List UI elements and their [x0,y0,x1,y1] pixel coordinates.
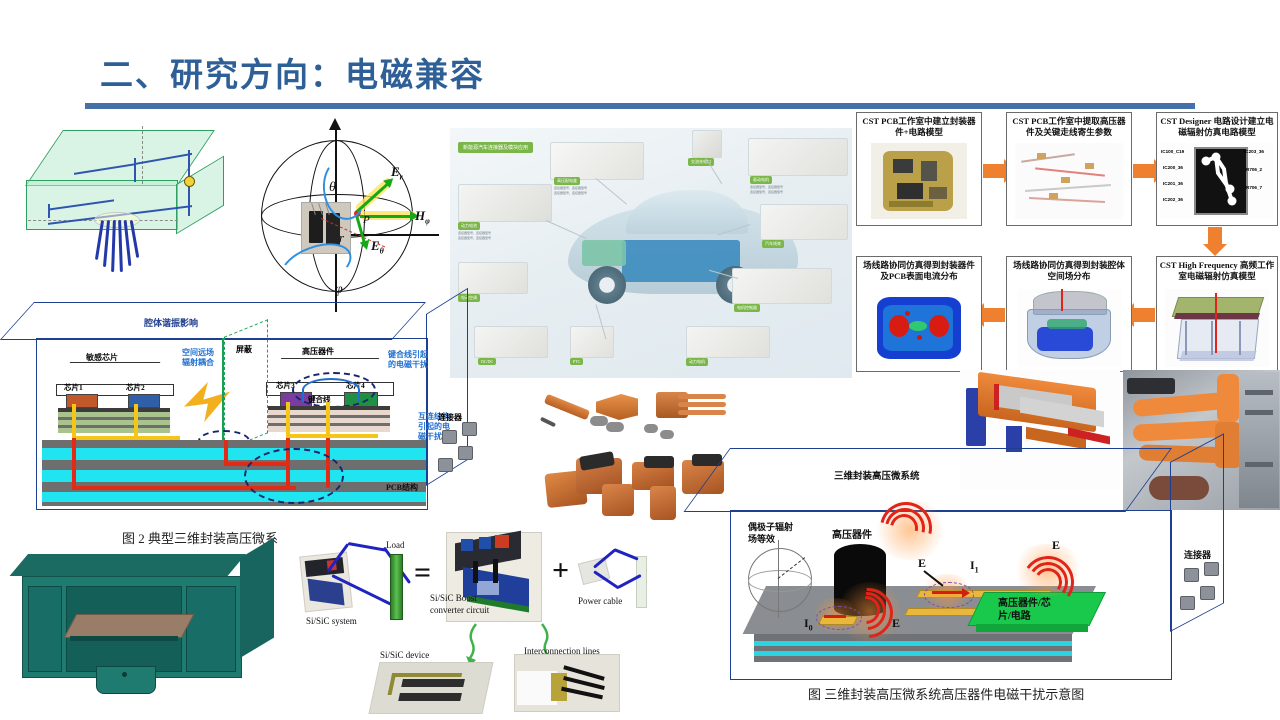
load-label: Load [386,540,405,550]
power-cable-wire-top2 [613,548,638,561]
sic-system-decomposition-diagram: Si/SiC system Load = Si/SiC Boostconvert… [288,530,698,718]
hv-connector-rod [678,402,726,407]
I0-label: I0 [804,616,813,632]
emi-figure-caption: 图 三维封装高压微系统高压器件电磁干扰示意图 [808,684,1084,703]
flow-arrow-1-2 [983,164,1005,178]
flow-arrow-3-4 [1208,227,1222,245]
hv-connector-body [650,486,676,520]
load-wire-upper2 [348,542,388,552]
flow-arrow-2-3 [1133,164,1155,178]
interconnect-via [134,404,138,438]
flow-step-6-label: 场线路协同仿真得到封装器件及PCB表面电流分布 [857,257,981,283]
i0-dashed-ring [816,606,862,630]
title-divider [85,103,1195,109]
connector-block [438,458,453,472]
internal-pcb-board [64,614,195,638]
net-label: R706_2 [1246,167,1262,172]
interconnection-lines-photo [514,654,620,712]
hv-connector-product-cluster [540,380,740,540]
bond-wire-emi-label: 键合线引起的电磁干扰 [388,350,428,370]
product-chip [686,326,770,358]
chassis-top-face [10,554,246,576]
emi-pcb-layer [754,656,1072,662]
car-panel-header-tag: 新能源汽车连接器及模块应用 [458,142,533,153]
leader-line [546,220,587,239]
red-net-via [72,438,76,490]
car-sub-text: 连接器型号，连接器型号连接器型号，连接器型号 [554,186,587,195]
flow-arrow-5-6 [983,308,1005,322]
chassis-right-bay [186,586,236,672]
dipole-equivalence-label: 偶极子辐射场等效 [748,522,793,545]
cavity-probe-ray [111,220,116,272]
I0-subscript: 0 [809,623,813,632]
pcb-structure-label: PCB结构 [386,482,418,493]
connector-block [1200,586,1215,600]
spherical-coordinate-diagram: θ φ r P Er Hφ Eθ [243,118,443,313]
hv-connector-lug [606,422,624,432]
hv-device-label: 高压器件 [832,526,872,541]
pcb-dielectric-layer [42,492,426,502]
flow-step-4[interactable]: CST High Frequency 高频工作室电磁辐射仿真模型 [1156,256,1278,372]
car-cabin [626,190,748,234]
ev-connector-application-diagram: 新能源汽车连接器及模块应用 高压配电盒 连接器型号，连接器型号连接器型号，连接器… [450,128,852,378]
net-label: IC203_36 [1244,149,1264,154]
equals-sign: = [414,556,431,590]
Etheta-subscript: θ [380,247,384,256]
hv-connector-pin-tip [540,417,556,428]
connector-block [1184,568,1199,582]
product-chip [732,268,832,304]
cavity-hidden-edge-2 [142,126,144,184]
product-chip [458,184,552,222]
connector-label: 连接器 [438,412,462,423]
sphere-z-arrow-icon [329,118,341,130]
hv-green-block-edge [976,624,1088,632]
product-chip [748,138,848,176]
net-label: R706_7 [1246,185,1262,190]
net-label: IC100_C19 [1161,149,1184,154]
hv-connector-rod [678,410,726,415]
connector-block [1204,562,1219,576]
chassis-boss-hole [122,672,127,677]
product-chip [692,130,722,158]
flow-step-2[interactable]: CST PCB工作室中提取高压器件及关键走线寄生参数 [1006,112,1132,226]
net-label: IC200_36 [1163,165,1183,170]
hf-cavity-thumbnail [1165,289,1269,367]
I1-subscript: 1 [975,565,979,574]
Etheta-label: Eθ [371,238,384,256]
r-label: r [339,230,344,246]
dipole-sphere-axis [778,540,779,618]
I1-label: I1 [970,558,979,574]
interconnection-lines-label: Interconnection lines [524,646,600,656]
package-cross-section-diagram: 腔体谐振影响 敏感芯片 芯片1 芯片2 高压器件 芯片3 芯片4 键合线 空间远… [34,300,504,530]
pcb-trace-thumbnail [1015,143,1123,219]
chassis-right-face [240,538,274,658]
car-tag-motor: 驱动电机 [750,176,772,184]
front-wheel [588,266,626,304]
sic-device-photo [368,662,493,714]
cavity-port-icon [184,176,195,187]
connector-block [462,422,477,436]
hv-connector-black-cap [644,456,674,468]
car-sub-text: 连接器型号，连接器型号连接器型号，连接器型号 [750,185,783,194]
die-1-label: 芯片1 [64,382,83,393]
net-label: IC202_36 [1163,197,1183,202]
cst-simulation-workflow: CST PCB工作室中建立封装器件+电路模型 CST PCB工作室中提取高压器件… [856,112,1276,370]
far-field-coupling-label: 空间远场辐射耦合 [182,348,214,368]
emi-box-top-face [684,448,1172,512]
pcb-dielectric-layer [42,470,426,482]
hv-connector-rod [678,394,726,399]
pcb-support-shelf [70,636,178,641]
flow-step-5-label: 场线路协同仿真得到封装腔体空间场分布 [1007,257,1131,283]
Hphi-subscript: φ [425,217,430,226]
connector-block [1180,596,1195,610]
sic-system-label: Si/SiC system [306,616,357,626]
die-2-label: 芯片2 [126,382,145,393]
net-label: IC201_36 [1163,181,1183,186]
flow-step-6[interactable]: 场线路协同仿真得到封装器件及PCB表面电流分布 [856,256,982,372]
Hphi-label: Hφ [415,208,430,226]
page-title: 二、研究方向：电磁兼容 [100,48,485,96]
package-title-label: 腔体谐振影响 [144,316,198,329]
power-cable-rail [636,556,647,608]
interconnect-trace [286,434,378,438]
Er-label: Er [391,164,403,182]
bond-wire-highlight-ellipse [292,372,376,408]
E-field-label-mid: E [918,556,926,571]
car-tag-ptc: PTC [570,358,583,365]
i1-current-arrowhead [962,588,970,598]
connector-block [442,430,457,444]
cavity-3d-model [22,122,237,307]
car-tag-harness: 汽车线束 [762,240,784,248]
pcb-layout-thumbnail [871,143,967,219]
interconnect-via [72,404,76,438]
die-2 [128,394,160,408]
plus-sign: + [552,554,569,588]
powertrain-module [582,240,626,266]
designer-schematic-thumbnail: IC100_C19 IC200_36 IC201_36 IC202_36 IC2… [1160,143,1274,219]
sensitive-chip-label: 敏感芯片 [86,352,118,363]
hv-connector-lug [644,424,658,433]
emi-box-title: 三维封装高压微系统 [834,468,920,482]
die-1 [66,394,98,408]
hv-connector-pin [544,394,590,421]
connector-block [458,446,473,460]
theta-label: θ [329,180,336,196]
flow-step-5[interactable]: 场线路协同仿真得到封装腔体空间场分布 [1006,256,1132,372]
enclosure-3d-model [22,548,282,718]
Etheta-letter: E [371,238,380,253]
flow-step-2-label: CST PCB工作室中提取高压器件及关键走线寄生参数 [1007,113,1131,139]
emi-box-side-face [1170,433,1224,632]
boost-converter-label: Si/SiC Boostconverter circuit [430,592,489,616]
car-tag-power-cable: 动力电池 [458,222,480,230]
car-tag-controller: 电机控制器 [734,304,760,312]
flow-step-3-label: CST Designer 电路设计建立电磁辐射仿真电路模型 [1157,113,1277,139]
hv-device-label: 高压器件 [302,346,334,357]
flow-step-1-label: CST PCB工作室中建立封装器件+电路模型 [857,113,981,139]
Er-letter: E [391,164,400,179]
interconnect-via [326,402,330,438]
sic-device-label: Si/SiC device [380,650,429,660]
product-chip [550,142,644,180]
product-chip [760,204,848,240]
E-field-label-right: E [1052,538,1060,553]
emi-pcb-edge [754,634,1072,641]
car-sub-text: 连接器型号，连接器型号连接器型号，连接器型号 [458,231,491,240]
emi-interference-schematic: 三维封装高压微系统 偶极子辐射场等效 高压器件 E I0 I1 E 高压器件/芯… [722,440,1278,688]
flow-step-3[interactable]: CST Designer 电路设计建立电磁辐射仿真电路模型 IC100_C19 … [1156,112,1278,226]
interconnect-highlight-ellipse [244,448,344,504]
phi-label: φ [335,282,343,298]
car-tag-drive-motor: 动力电机 [686,358,708,366]
flow-step-4-label: CST High Frequency 高频工作室电磁辐射仿真模型 [1157,257,1277,283]
chassis-bottom-boss [96,666,156,694]
shield-label: 屏蔽 [236,344,252,355]
point-P-label: P [363,214,370,226]
hv-connector-body [602,484,634,516]
figure-2-caption: 图 2 典型三维封装高压微系 [122,528,278,547]
E-field-label-left: E [892,616,900,631]
cavity-trace-v3 [48,204,50,218]
car-tag-hv-box: 高压配电盒 [554,177,580,185]
flow-arrow-4-5 [1133,308,1155,322]
hv-connector-lug [660,430,674,439]
surface-current-thumbnail [865,291,973,367]
enclosure-top-face [0,302,426,340]
power-cable-label: Power cable [578,596,622,606]
load-resistor-bar [390,554,403,620]
pcb-dielectric-layer [42,448,426,460]
flow-step-1[interactable]: CST PCB工作室中建立封装器件+电路模型 [856,112,982,226]
dipole-sphere-equator [748,570,812,592]
Hphi-letter: H [415,208,425,223]
leader-line [596,178,627,204]
i1-current-arrow [932,591,962,594]
product-chip [570,326,614,358]
cavity-field-thumbnail [1017,289,1121,367]
interconnect-via [286,402,290,438]
chassis-left-bay [28,586,62,672]
Er-subscript: r [400,173,403,182]
product-chip [458,262,528,294]
connector-label: 连接器 [1184,548,1211,561]
